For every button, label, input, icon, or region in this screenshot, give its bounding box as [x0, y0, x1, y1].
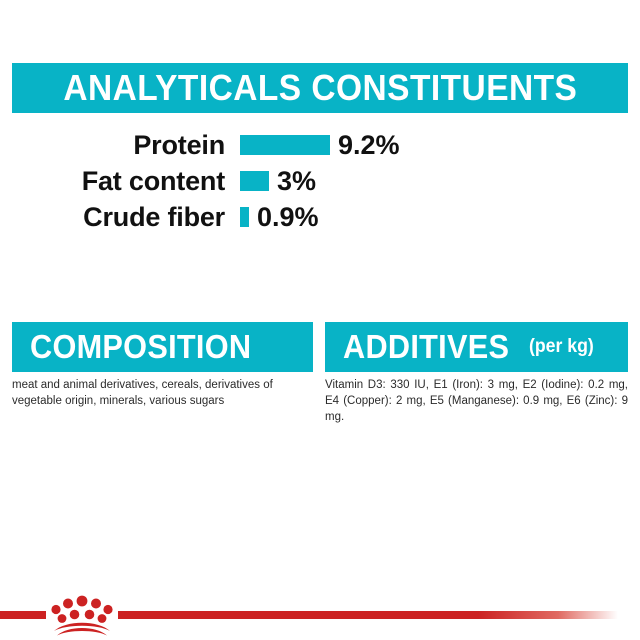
page-title: ANALYTICALS CONSTITUENTS	[63, 67, 577, 109]
additives-banner: ADDITIVES (per kg)	[325, 322, 628, 372]
chart-bar-fat-content	[240, 171, 269, 191]
analytical-constituents-chart: Protein 9.2% Fat content 3% Crude fiber …	[0, 127, 640, 235]
additives-title: ADDITIVES	[343, 328, 509, 366]
chart-bar-group-protein: 9.2%	[240, 132, 400, 159]
composition-banner: COMPOSITION	[12, 322, 313, 372]
chart-bar-crude-fiber	[240, 207, 249, 227]
chart-row-crude-fiber: Crude fiber 0.9%	[0, 199, 640, 235]
chart-bar-group-crude-fiber: 0.9%	[240, 204, 319, 231]
chart-value-protein: 9.2%	[338, 132, 400, 159]
analyticals-constituents-banner: ANALYTICALS CONSTITUENTS	[12, 63, 628, 113]
composition-section: COMPOSITION meat and animal derivatives,…	[12, 322, 313, 410]
chart-label-fat-content: Fat content	[0, 168, 225, 195]
chart-bar-protein	[240, 135, 330, 155]
additives-section: ADDITIVES (per kg) Vitamin D3: 330 IU, E…	[325, 322, 628, 426]
royal-canin-crown-icon	[46, 590, 118, 638]
chart-value-crude-fiber: 0.9%	[257, 204, 319, 231]
composition-body-text: meat and animal derivatives, cereals, de…	[12, 372, 313, 410]
composition-title: COMPOSITION	[30, 328, 251, 366]
brand-rule-right	[118, 611, 618, 619]
product-info-panel: ANALYTICALS CONSTITUENTS Protein 9.2% Fa…	[0, 0, 640, 640]
chart-bar-group-fat-content: 3%	[240, 168, 316, 195]
chart-row-protein: Protein 9.2%	[0, 127, 640, 163]
chart-label-crude-fiber: Crude fiber	[0, 204, 225, 231]
additives-body-text: Vitamin D3: 330 IU, E1 (Iron): 3 mg, E2 …	[325, 372, 628, 426]
brand-rule-left	[0, 611, 46, 619]
chart-row-fat-content: Fat content 3%	[0, 163, 640, 199]
brand-footer	[0, 598, 640, 640]
additives-subtitle: (per kg)	[529, 336, 594, 358]
chart-value-fat-content: 3%	[277, 168, 316, 195]
chart-label-protein: Protein	[0, 132, 225, 159]
